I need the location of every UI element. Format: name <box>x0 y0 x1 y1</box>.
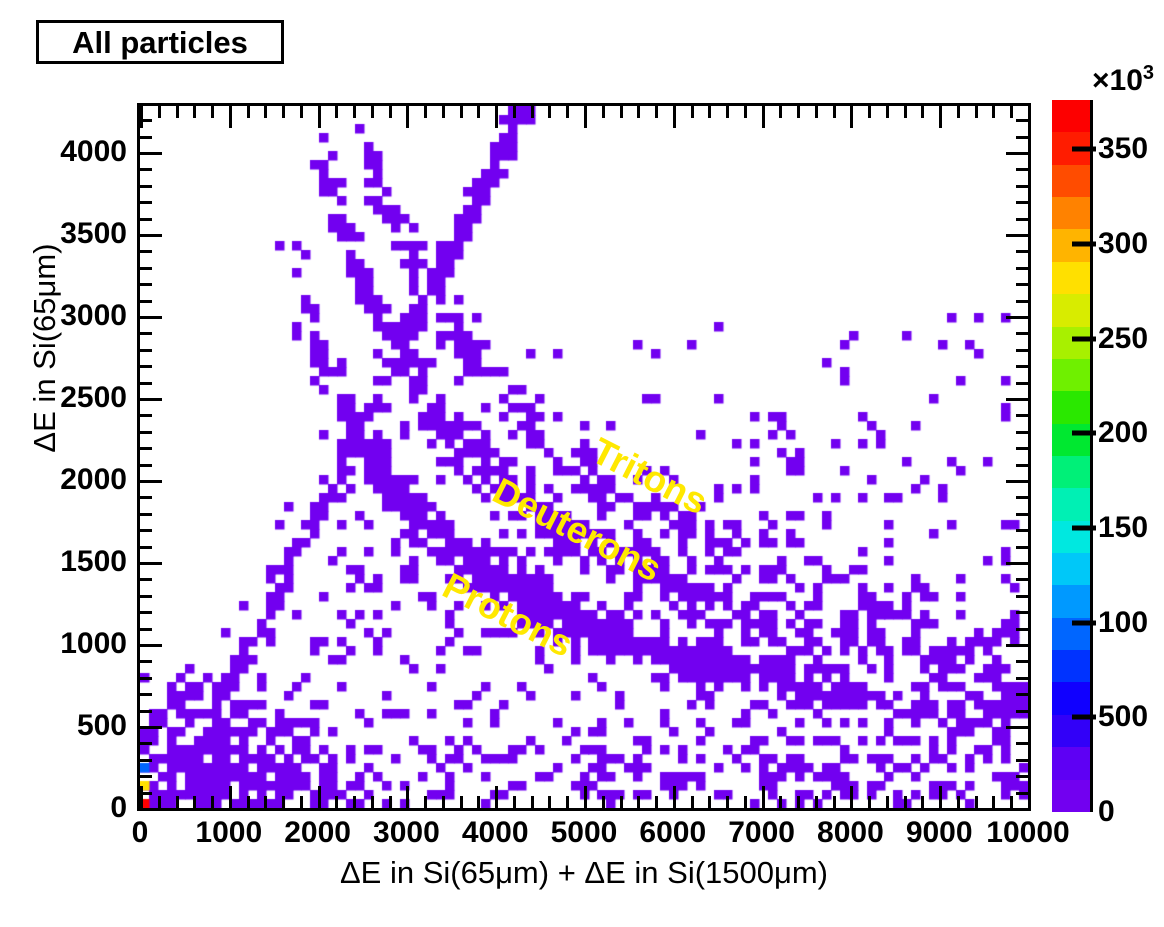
axis-tick <box>1016 546 1028 549</box>
axis-tick <box>584 786 587 808</box>
axis-tick <box>1006 152 1028 155</box>
axis-tick <box>211 796 214 808</box>
axis-tick <box>1016 513 1028 516</box>
axis-tick <box>602 106 605 118</box>
axis-tick <box>140 431 152 434</box>
axis-tick <box>708 106 711 118</box>
x-tick-label: 8000 <box>817 816 884 850</box>
axis-tick <box>371 796 374 808</box>
palette-tick-label: 500 <box>1098 700 1148 734</box>
axis-tick <box>1016 267 1028 270</box>
axis-tick <box>140 611 152 614</box>
axis-tick <box>140 283 152 286</box>
axis-tick <box>1016 496 1028 499</box>
palette-band <box>1052 262 1090 294</box>
axis-tick <box>620 796 623 808</box>
axis-tick <box>797 796 800 808</box>
axis-tick <box>264 796 267 808</box>
palette-tick-label: 100 <box>1098 606 1148 640</box>
axis-tick <box>318 786 321 808</box>
axis-tick <box>1016 775 1028 778</box>
axis-tick <box>1016 595 1028 598</box>
axis-tick <box>353 106 356 118</box>
axis-tick <box>389 106 392 118</box>
axis-tick <box>140 106 143 128</box>
axis-tick <box>1028 786 1031 808</box>
axis-tick <box>140 595 152 598</box>
palette-tick <box>1072 336 1096 341</box>
axis-tick <box>282 106 285 118</box>
axis-tick <box>193 796 196 808</box>
color-palette-axis <box>1090 100 1093 812</box>
axis-tick <box>1006 808 1028 811</box>
palette-tick <box>1072 431 1096 436</box>
axis-tick <box>247 796 250 808</box>
axis-tick <box>1016 300 1028 303</box>
axis-tick <box>1006 644 1028 647</box>
plot-frame <box>137 103 1031 811</box>
axis-tick <box>442 796 445 808</box>
axis-tick <box>495 106 498 128</box>
axis-tick <box>335 796 338 808</box>
axis-tick <box>140 546 152 549</box>
axis-tick <box>247 106 250 118</box>
axis-tick <box>904 796 907 808</box>
axis-tick <box>939 106 942 128</box>
y-tick-label: 1000 <box>60 627 127 661</box>
x-tick-label: 10000 <box>986 816 1069 850</box>
axis-tick <box>140 660 152 663</box>
palette-tick-label: 200 <box>1098 416 1148 450</box>
axis-tick <box>460 796 463 808</box>
palette-band <box>1052 100 1090 132</box>
axis-tick <box>140 710 152 713</box>
palette-band <box>1052 294 1090 326</box>
palette-tick <box>1072 241 1096 246</box>
color-palette-bar <box>1052 100 1090 812</box>
palette-band <box>1052 456 1090 488</box>
axis-tick <box>921 106 924 118</box>
axis-tick <box>140 578 152 581</box>
axis-tick <box>300 106 303 118</box>
palette-band <box>1052 553 1090 585</box>
palette-band <box>1052 165 1090 197</box>
axis-tick <box>655 796 658 808</box>
axis-tick <box>264 106 267 118</box>
title-box: All particles <box>36 20 284 64</box>
axis-tick <box>833 796 836 808</box>
axis-tick <box>140 218 152 221</box>
axis-tick <box>939 786 942 808</box>
axis-tick <box>140 447 152 450</box>
palette-band <box>1052 650 1090 682</box>
axis-tick <box>691 106 694 118</box>
palette-band <box>1052 585 1090 617</box>
axis-tick <box>1016 464 1028 467</box>
palette-tick-label: 150 <box>1098 511 1148 545</box>
axis-tick <box>140 562 162 565</box>
axis-tick <box>1016 365 1028 368</box>
axis-tick <box>886 106 889 118</box>
palette-tick-label: 300 <box>1098 227 1148 261</box>
axis-tick <box>637 796 640 808</box>
axis-tick <box>1016 332 1028 335</box>
axis-tick <box>406 786 409 808</box>
axis-tick <box>140 201 152 204</box>
axis-tick <box>140 529 152 532</box>
axis-tick <box>566 796 569 808</box>
axis-tick <box>140 808 162 811</box>
axis-tick <box>620 106 623 118</box>
x-tick-label: 1000 <box>195 816 262 850</box>
axis-tick <box>140 775 152 778</box>
axis-tick <box>1006 316 1028 319</box>
axis-tick <box>1006 234 1028 237</box>
axis-tick <box>176 796 179 808</box>
axis-tick <box>1028 106 1031 128</box>
axis-tick <box>1016 677 1028 680</box>
axis-tick <box>992 106 995 118</box>
axis-tick <box>1010 106 1013 118</box>
axis-tick <box>1016 710 1028 713</box>
axis-tick <box>779 796 782 808</box>
axis-tick <box>140 119 152 122</box>
axis-tick <box>1016 431 1028 434</box>
axis-tick <box>1016 201 1028 204</box>
axis-tick <box>140 759 152 762</box>
axis-tick <box>140 677 152 680</box>
axis-tick <box>140 693 152 696</box>
axis-tick <box>655 106 658 118</box>
axis-tick <box>140 152 162 155</box>
axis-tick <box>140 464 152 467</box>
axis-tick <box>335 106 338 118</box>
axis-tick <box>495 786 498 808</box>
axis-tick <box>1016 382 1028 385</box>
axis-tick <box>1016 119 1028 122</box>
x-tick-label: 2000 <box>284 816 351 850</box>
axis-tick <box>282 796 285 808</box>
axis-tick <box>176 106 179 118</box>
axis-tick <box>833 106 836 118</box>
axis-tick <box>140 644 162 647</box>
axis-tick <box>566 106 569 118</box>
axis-tick <box>762 106 765 128</box>
palette-tick <box>1072 620 1096 625</box>
color-palette-exponent: ×103 <box>1092 62 1154 98</box>
x-tick-label: 9000 <box>906 816 973 850</box>
palette-band <box>1052 391 1090 423</box>
axis-tick <box>602 796 605 808</box>
axis-tick <box>1016 447 1028 450</box>
axis-tick <box>673 786 676 808</box>
axis-tick <box>300 796 303 808</box>
axis-tick <box>353 796 356 808</box>
axis-tick <box>584 106 587 128</box>
axis-tick <box>140 332 152 335</box>
axis-tick <box>442 106 445 118</box>
axis-tick <box>1016 185 1028 188</box>
axis-tick <box>1016 693 1028 696</box>
palette-band <box>1052 488 1090 520</box>
axis-tick <box>1016 628 1028 631</box>
axis-tick <box>140 742 152 745</box>
axis-tick <box>1016 250 1028 253</box>
axis-tick <box>1006 562 1028 565</box>
x-tick-label: 4000 <box>462 816 529 850</box>
palette-band <box>1052 682 1090 714</box>
axis-tick <box>548 106 551 118</box>
axis-tick <box>957 796 960 808</box>
axis-tick <box>140 628 152 631</box>
axis-tick <box>815 796 818 808</box>
palette-band <box>1052 747 1090 779</box>
y-tick-label: 4000 <box>60 135 127 169</box>
axis-tick <box>957 106 960 118</box>
root-canvas: All particles ΔE in Si(65μm) 05001000150… <box>0 0 1164 927</box>
axis-tick <box>726 106 729 118</box>
axis-tick <box>1016 742 1028 745</box>
axis-tick <box>762 786 765 808</box>
axis-tick <box>1016 792 1028 795</box>
axis-tick <box>477 796 480 808</box>
axis-tick <box>1006 480 1028 483</box>
axis-tick <box>1016 136 1028 139</box>
x-axis-tick-labels: 0100020003000400050006000700080009000100… <box>137 816 1031 856</box>
axis-tick <box>815 106 818 118</box>
axis-tick <box>850 106 853 128</box>
x-tick-label: 6000 <box>639 816 706 850</box>
axis-tick <box>193 106 196 118</box>
axis-tick <box>1016 349 1028 352</box>
axis-tick <box>389 796 392 808</box>
axis-tick <box>691 796 694 808</box>
axis-tick <box>140 234 162 237</box>
axis-tick <box>229 106 232 128</box>
axis-tick <box>513 106 516 118</box>
y-tick-label: 1500 <box>60 545 127 579</box>
axis-tick <box>140 250 152 253</box>
axis-tick <box>424 106 427 118</box>
axis-tick <box>1016 218 1028 221</box>
palette-band <box>1052 780 1090 812</box>
axis-tick <box>460 106 463 118</box>
axis-tick <box>1016 611 1028 614</box>
axis-tick <box>140 496 152 499</box>
axis-tick <box>708 796 711 808</box>
axis-tick <box>850 786 853 808</box>
axis-tick <box>904 106 907 118</box>
axis-tick <box>140 349 152 352</box>
axis-tick <box>673 106 676 128</box>
axis-tick <box>531 106 534 118</box>
axis-tick <box>140 316 162 319</box>
x-axis-title: ΔE in Si(65μm) + ΔE in Si(1500μm) <box>137 855 1031 891</box>
axis-tick <box>886 796 889 808</box>
axis-tick <box>779 106 782 118</box>
y-tick-label: 3000 <box>60 299 127 333</box>
axis-tick <box>140 365 152 368</box>
palette-band <box>1052 327 1090 359</box>
y-tick-label: 3500 <box>60 217 127 251</box>
axis-tick <box>513 796 516 808</box>
y-axis-tick-labels: 05001000150020002500300035004000 <box>0 103 132 811</box>
y-tick-label: 0 <box>110 791 127 825</box>
palette-tick <box>1072 147 1096 152</box>
axis-tick <box>1016 283 1028 286</box>
axis-tick <box>1006 726 1028 729</box>
palette-tick-label: 250 <box>1098 322 1148 356</box>
axis-tick <box>158 796 161 808</box>
palette-tick-label: 350 <box>1098 132 1148 166</box>
axis-tick <box>744 796 747 808</box>
axis-tick <box>229 786 232 808</box>
axis-tick <box>921 796 924 808</box>
y-tick-label: 2500 <box>60 381 127 415</box>
axis-tick <box>140 267 152 270</box>
axis-tick <box>140 300 152 303</box>
axis-tick <box>371 106 374 118</box>
axis-tick <box>992 796 995 808</box>
y-tick-label: 500 <box>77 709 127 743</box>
page-title: All particles <box>72 27 248 58</box>
axis-tick <box>744 106 747 118</box>
axis-tick <box>140 136 152 139</box>
axis-tick <box>975 106 978 118</box>
axis-tick <box>140 382 152 385</box>
axis-tick <box>140 786 143 808</box>
axis-tick <box>868 106 871 118</box>
palette-band <box>1052 197 1090 229</box>
axis-tick <box>140 185 152 188</box>
axis-tick <box>726 796 729 808</box>
axis-tick <box>548 796 551 808</box>
axis-tick <box>797 106 800 118</box>
axis-tick <box>158 106 161 118</box>
axis-tick <box>424 796 427 808</box>
axis-tick <box>1016 759 1028 762</box>
y-tick-label: 2000 <box>60 463 127 497</box>
axis-tick <box>318 106 321 128</box>
axis-tick <box>1006 398 1028 401</box>
axis-tick <box>140 480 162 483</box>
axis-tick <box>211 106 214 118</box>
axis-tick <box>868 796 871 808</box>
axis-tick <box>140 726 162 729</box>
axis-tick <box>531 796 534 808</box>
axis-tick <box>140 168 152 171</box>
palette-tick <box>1072 525 1096 530</box>
axis-tick <box>637 106 640 118</box>
axis-tick <box>1016 529 1028 532</box>
x-tick-label: 3000 <box>373 816 440 850</box>
axis-tick <box>1016 578 1028 581</box>
x-tick-label: 7000 <box>728 816 795 850</box>
x-tick-label: 5000 <box>551 816 618 850</box>
axis-tick <box>1010 796 1013 808</box>
heatmap-canvas <box>140 106 1028 808</box>
axis-tick <box>1016 414 1028 417</box>
axis-tick <box>140 398 162 401</box>
axis-tick <box>1016 660 1028 663</box>
axis-tick <box>975 796 978 808</box>
axis-tick <box>140 414 152 417</box>
axis-tick <box>140 513 152 516</box>
x-tick-label: 0 <box>132 816 149 850</box>
palette-band <box>1052 359 1090 391</box>
palette-tick-label: 0 <box>1098 795 1115 829</box>
palette-band <box>1052 424 1090 456</box>
palette-tick <box>1072 715 1096 720</box>
axis-tick <box>477 106 480 118</box>
axis-tick <box>406 106 409 128</box>
axis-tick <box>140 792 152 795</box>
axis-tick <box>1016 168 1028 171</box>
